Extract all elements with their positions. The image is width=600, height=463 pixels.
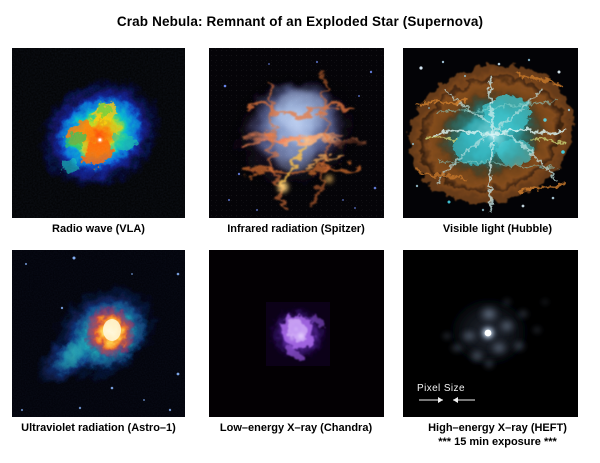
caption-ultraviolet-astro1: Ultraviolet radiation (Astro–1) — [0, 421, 197, 435]
panel-ultraviolet-astro1[interactable] — [12, 250, 185, 417]
caption-infrared-spitzer: Infrared radiation (Spitzer) — [197, 222, 395, 236]
pixel-size-arrow-icons — [417, 395, 495, 404]
caption-radio-vla: Radio wave (VLA) — [0, 222, 197, 236]
visible-hubble-image — [403, 48, 578, 218]
caption-heft-main: High–energy X–ray (HEFT) — [428, 422, 567, 434]
caption-lowenergy-xray-chandra: Low–energy X–ray (Chandra) — [197, 421, 395, 435]
caption-heft-subtitle: *** 15 min exposure *** — [395, 435, 600, 449]
caption-highenergy-xray-heft: High–energy X–ray (HEFT) *** 15 min expo… — [395, 421, 600, 449]
infrared-spitzer-image — [209, 48, 384, 218]
panel-highenergy-xray-heft[interactable]: Pixel Size — [403, 250, 578, 417]
panel-radio-vla[interactable] — [12, 48, 185, 218]
pixel-size-arrows — [417, 395, 495, 407]
ultraviolet-astro1-image — [12, 250, 185, 417]
panel-infrared-spitzer[interactable] — [209, 48, 384, 218]
panel-visible-hubble[interactable] — [403, 48, 578, 218]
chandra-xray-image — [209, 250, 384, 417]
multiwavelength-figure: Crab Nebula: Remnant of an Exploded Star… — [0, 0, 600, 463]
page-title: Crab Nebula: Remnant of an Exploded Star… — [0, 14, 600, 29]
chandra-inset — [266, 302, 330, 366]
pixel-size-label: Pixel Size — [417, 383, 495, 394]
radio-vla-image — [12, 48, 185, 218]
panel-lowenergy-xray-chandra[interactable] — [209, 250, 384, 417]
pixel-size-annotation: Pixel Size — [417, 383, 495, 407]
caption-visible-hubble: Visible light (Hubble) — [395, 222, 600, 236]
